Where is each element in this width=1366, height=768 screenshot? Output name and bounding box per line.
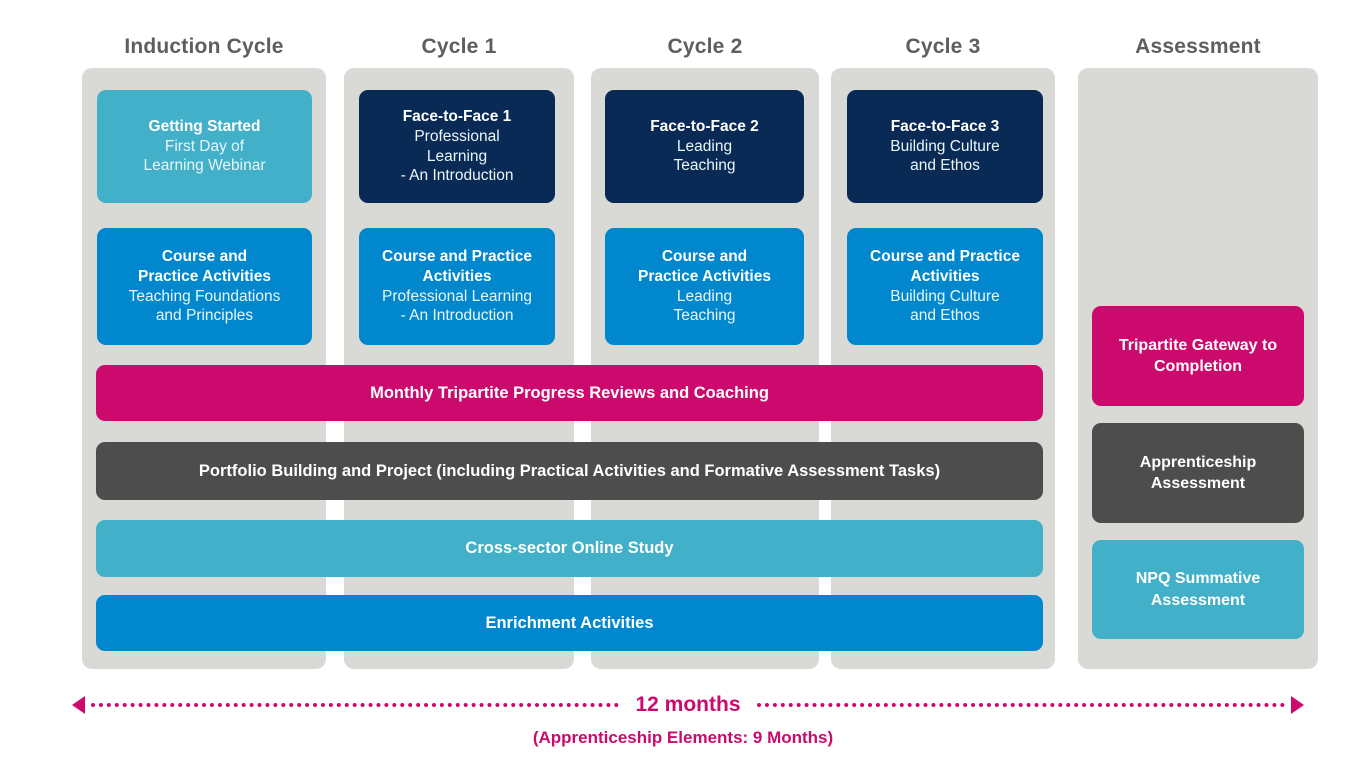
card-title-line-1: Course and Practice: [382, 247, 532, 267]
card-title-line-2: Practice Activities: [138, 267, 271, 287]
card-title: Face-to-Face 3: [891, 117, 1000, 137]
card-tripartite-gateway-to-completion[interactable]: Tripartite Gateway to Completion: [1092, 306, 1304, 406]
card-subtitle-line-1: First Day of: [165, 137, 244, 157]
timeline: 12 months: [0, 688, 1366, 722]
card-subtitle-line-1: Teaching Foundations: [129, 287, 281, 307]
diagram-canvas: Induction Cycle Cycle 1 Cycle 2 Cycle 3 …: [0, 0, 1366, 768]
card-subtitle-line-1: Professional: [414, 127, 499, 147]
bar-cross-sector-online-study[interactable]: Cross-sector Online Study: [96, 520, 1043, 577]
card-title: Face-to-Face 1: [403, 107, 512, 127]
card-getting-started[interactable]: Getting Started First Day of Learning We…: [97, 90, 312, 203]
card-subtitle-line-2: and Ethos: [910, 306, 980, 326]
card-subtitle-line-1: Leading: [677, 287, 732, 307]
card-subtitle-line-1: Leading: [677, 137, 732, 157]
card-subtitle-line-2: Learning: [427, 147, 487, 167]
card-title-line-1: Course and Practice: [870, 247, 1020, 267]
card-title-line-2: Practice Activities: [638, 267, 771, 287]
assessment-card-label: Apprenticeship Assessment: [1102, 452, 1294, 495]
card-subtitle-line-2: Teaching: [673, 156, 735, 176]
arrow-left-icon: [72, 696, 85, 714]
bar-portfolio-building[interactable]: Portfolio Building and Project (includin…: [96, 442, 1043, 500]
card-subtitle-line-2: Teaching: [673, 306, 735, 326]
card-course-practice-induction[interactable]: Course and Practice Activities Teaching …: [97, 228, 312, 345]
bar-label: Cross-sector Online Study: [465, 539, 673, 558]
arrow-right-icon: [1291, 696, 1304, 714]
card-face-to-face-1[interactable]: Face-to-Face 1 Professional Learning - A…: [359, 90, 555, 203]
card-title-line-1: Course and: [162, 247, 247, 267]
card-subtitle-line-2: Learning Webinar: [143, 156, 265, 176]
card-subtitle-line-1: Building Culture: [890, 287, 999, 307]
card-title-line-2: Activities: [911, 267, 980, 287]
timeline-line-right: [757, 703, 1285, 707]
card-apprenticeship-assessment[interactable]: Apprenticeship Assessment: [1092, 423, 1304, 523]
column-header-cycle-2: Cycle 2: [591, 32, 819, 62]
bar-enrichment-activities[interactable]: Enrichment Activities: [96, 595, 1043, 651]
card-title-line-2: Activities: [423, 267, 492, 287]
assessment-card-label: Tripartite Gateway to Completion: [1102, 335, 1294, 378]
assessment-card-label: NPQ Summative Assessment: [1102, 568, 1294, 611]
card-course-practice-cycle-1[interactable]: Course and Practice Activities Professio…: [359, 228, 555, 345]
column-header-induction-cycle: Induction Cycle: [82, 32, 326, 62]
column-header-cycle-3: Cycle 3: [831, 32, 1055, 62]
card-subtitle-line-2: and Ethos: [910, 156, 980, 176]
card-title-line-1: Course and: [662, 247, 747, 267]
card-course-practice-cycle-2[interactable]: Course and Practice Activities Leading T…: [605, 228, 804, 345]
bar-label: Monthly Tripartite Progress Reviews and …: [370, 384, 769, 403]
card-subtitle-line-2: - An Introduction: [401, 306, 514, 326]
bar-label: Enrichment Activities: [485, 614, 653, 633]
card-face-to-face-3[interactable]: Face-to-Face 3 Building Culture and Etho…: [847, 90, 1043, 203]
card-subtitle-line-3: - An Introduction: [401, 166, 514, 186]
card-face-to-face-2[interactable]: Face-to-Face 2 Leading Teaching: [605, 90, 804, 203]
column-header-assessment: Assessment: [1078, 32, 1318, 62]
card-title: Getting Started: [149, 117, 261, 137]
card-subtitle-line-2: and Principles: [156, 306, 253, 326]
timeline-sub-label: (Apprenticeship Elements: 9 Months): [0, 728, 1366, 748]
card-subtitle-line-1: Building Culture: [890, 137, 999, 157]
timeline-line-left: [91, 703, 619, 707]
card-title: Face-to-Face 2: [650, 117, 759, 137]
card-npq-summative-assessment[interactable]: NPQ Summative Assessment: [1092, 540, 1304, 639]
bar-label: Portfolio Building and Project (includin…: [199, 462, 940, 481]
timeline-duration-label: 12 months: [625, 693, 750, 717]
card-subtitle-line-1: Professional Learning: [382, 287, 532, 307]
card-course-practice-cycle-3[interactable]: Course and Practice Activities Building …: [847, 228, 1043, 345]
bar-monthly-tripartite-reviews[interactable]: Monthly Tripartite Progress Reviews and …: [96, 365, 1043, 421]
column-header-cycle-1: Cycle 1: [344, 32, 574, 62]
